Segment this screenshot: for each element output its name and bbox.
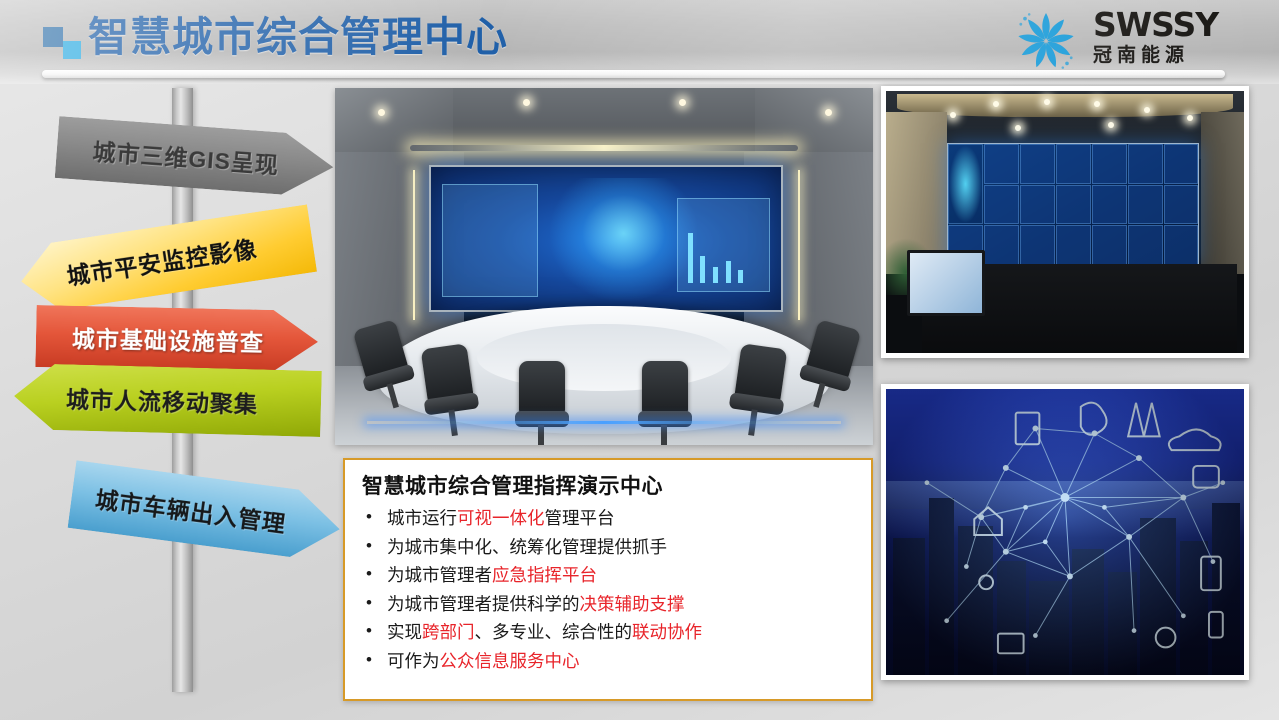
sign-label: 城市基础设施普查 — [36, 319, 265, 358]
bar — [738, 270, 743, 283]
downlight-icon — [1187, 115, 1193, 121]
card-bullet-list: 城市运行可视一体化管理平台为城市集中化、统筹化管理提供抓手为城市管理者应急指挥平… — [345, 504, 871, 675]
highlight-text: 决策辅助支撑 — [580, 594, 685, 614]
bullet-text: 管理平台 — [545, 508, 615, 528]
logo-wordmark: SWSSY 冠南能源 — [1093, 8, 1257, 68]
screen-tile — [1020, 225, 1055, 265]
screen-tile — [1020, 185, 1055, 225]
screen-tile — [1056, 225, 1091, 265]
decor-square-light-icon — [63, 41, 81, 59]
sign-city-infrastructure-survey[interactable]: 城市基础设施普查 — [35, 305, 318, 373]
ceiling-light-strip — [410, 145, 797, 151]
bullet-text: 为城市集中化、统筹化管理提供抓手 — [387, 537, 667, 557]
screen-tile — [1020, 144, 1055, 184]
downlight-icon — [1015, 125, 1021, 131]
slide-root: 智慧城市综合管理中心 — [0, 0, 1279, 720]
screen-tile — [1092, 144, 1127, 184]
command-center-round-table-photo — [335, 88, 873, 445]
screen-tile — [1128, 225, 1163, 265]
screen-tile — [1128, 144, 1163, 184]
desk-monitor — [907, 250, 985, 316]
screen-tile — [1056, 144, 1091, 184]
gis-map-visual — [550, 178, 697, 301]
left-data-panel — [442, 184, 538, 297]
card-bullet-item: 实现跨部门、多专业、综合性的联动协作 — [345, 618, 871, 647]
sign-city-crowd-flow[interactable]: 城市人流移动聚集 — [13, 363, 322, 437]
bullet-text: 城市运行 — [387, 508, 457, 528]
downlight-icon — [1044, 99, 1050, 105]
description-card: 智慧城市综合管理指挥演示中心 城市运行可视一体化管理平台为城市集中化、统筹化管理… — [343, 458, 873, 701]
logo-brand-en: SWSSY — [1093, 8, 1257, 42]
vignette-overlay — [886, 389, 1244, 675]
sign-label: 城市三维GIS呈现 — [56, 130, 281, 180]
screen-tile — [1164, 225, 1199, 265]
office-chair — [636, 361, 694, 445]
office-chair — [513, 361, 571, 445]
sign-city-3d-gis[interactable]: 城市三维GIS呈现 — [55, 116, 336, 198]
smart-city-iot-network-photo — [881, 384, 1249, 680]
highlight-text: 应急指挥平台 — [492, 565, 597, 585]
screen-tile — [984, 185, 1019, 225]
sign-city-vehicle-access[interactable]: 城市车辆出入管理 — [68, 460, 345, 563]
card-bullet-item: 为城市管理者提供科学的决策辅助支撑 — [345, 590, 871, 619]
highlight-text: 公众信息服务中心 — [440, 651, 580, 671]
wall-right — [1201, 112, 1244, 274]
downlight-icon — [523, 99, 530, 106]
downlight-icon — [1144, 107, 1150, 113]
photo-inner — [886, 91, 1244, 353]
company-logo: SWSSY 冠南能源 — [1007, 4, 1257, 78]
sign-city-security-video[interactable]: 城市平安监控影像 — [16, 204, 317, 315]
sign-label: 城市车辆出入管理 — [70, 477, 289, 539]
bar — [726, 261, 731, 283]
screen-tile — [1092, 225, 1127, 265]
highlight-text: 联动协作 — [632, 622, 702, 642]
video-wall-screen — [429, 165, 783, 312]
bullet-text: 为城市管理者 — [387, 565, 492, 585]
bullet-text: 、多专业、综合性的 — [475, 622, 633, 642]
photo-inner — [886, 389, 1244, 675]
logo-brand-cn: 冠南能源 — [1093, 44, 1257, 68]
floor-led-strip — [367, 421, 840, 424]
power-dispatch-video-wall-photo — [881, 86, 1249, 358]
decor-square-dark-icon — [43, 27, 63, 47]
sign-label: 城市人流移动聚集 — [14, 379, 259, 419]
bar — [688, 233, 693, 283]
card-bullet-item: 为城市集中化、统筹化管理提供抓手 — [345, 533, 871, 562]
downlight-icon — [825, 109, 832, 116]
screen-tile — [1056, 185, 1091, 225]
led-video-wall — [947, 143, 1200, 266]
slide-header: 智慧城市综合管理中心 — [0, 0, 1279, 84]
bar — [700, 256, 705, 283]
card-bullet-item: 为城市管理者应急指挥平台 — [345, 561, 871, 590]
screen-tile — [1092, 185, 1127, 225]
highlight-text: 跨部门 — [422, 622, 475, 642]
card-bullet-item: 可作为公众信息服务中心 — [345, 647, 871, 676]
screen-tile — [1128, 185, 1163, 225]
screen-tile — [1164, 185, 1199, 225]
page-title: 智慧城市综合管理中心 — [88, 8, 508, 66]
screen-tile-map — [948, 144, 983, 224]
bullet-text: 可作为 — [387, 651, 440, 671]
highlight-text: 可视一体化 — [457, 508, 545, 528]
right-data-panel — [677, 198, 770, 291]
card-bullet-item: 城市运行可视一体化管理平台 — [345, 504, 871, 533]
sign-label: 城市平安监控影像 — [19, 229, 259, 298]
screen-tile — [984, 225, 1019, 265]
bullet-text: 为城市管理者提供科学的 — [387, 594, 580, 614]
wall-light-strip-right — [798, 170, 800, 320]
card-title: 智慧城市综合管理指挥演示中心 — [345, 460, 871, 504]
blue-petal-flower-mark-icon — [1007, 6, 1085, 76]
screen-tile — [984, 144, 1019, 184]
ceiling-cove — [897, 94, 1234, 118]
bar — [713, 267, 718, 283]
bullet-text: 实现 — [387, 622, 422, 642]
screen-tile — [1164, 144, 1199, 184]
downlight-icon — [679, 99, 686, 106]
wall-light-strip-left — [413, 170, 415, 320]
